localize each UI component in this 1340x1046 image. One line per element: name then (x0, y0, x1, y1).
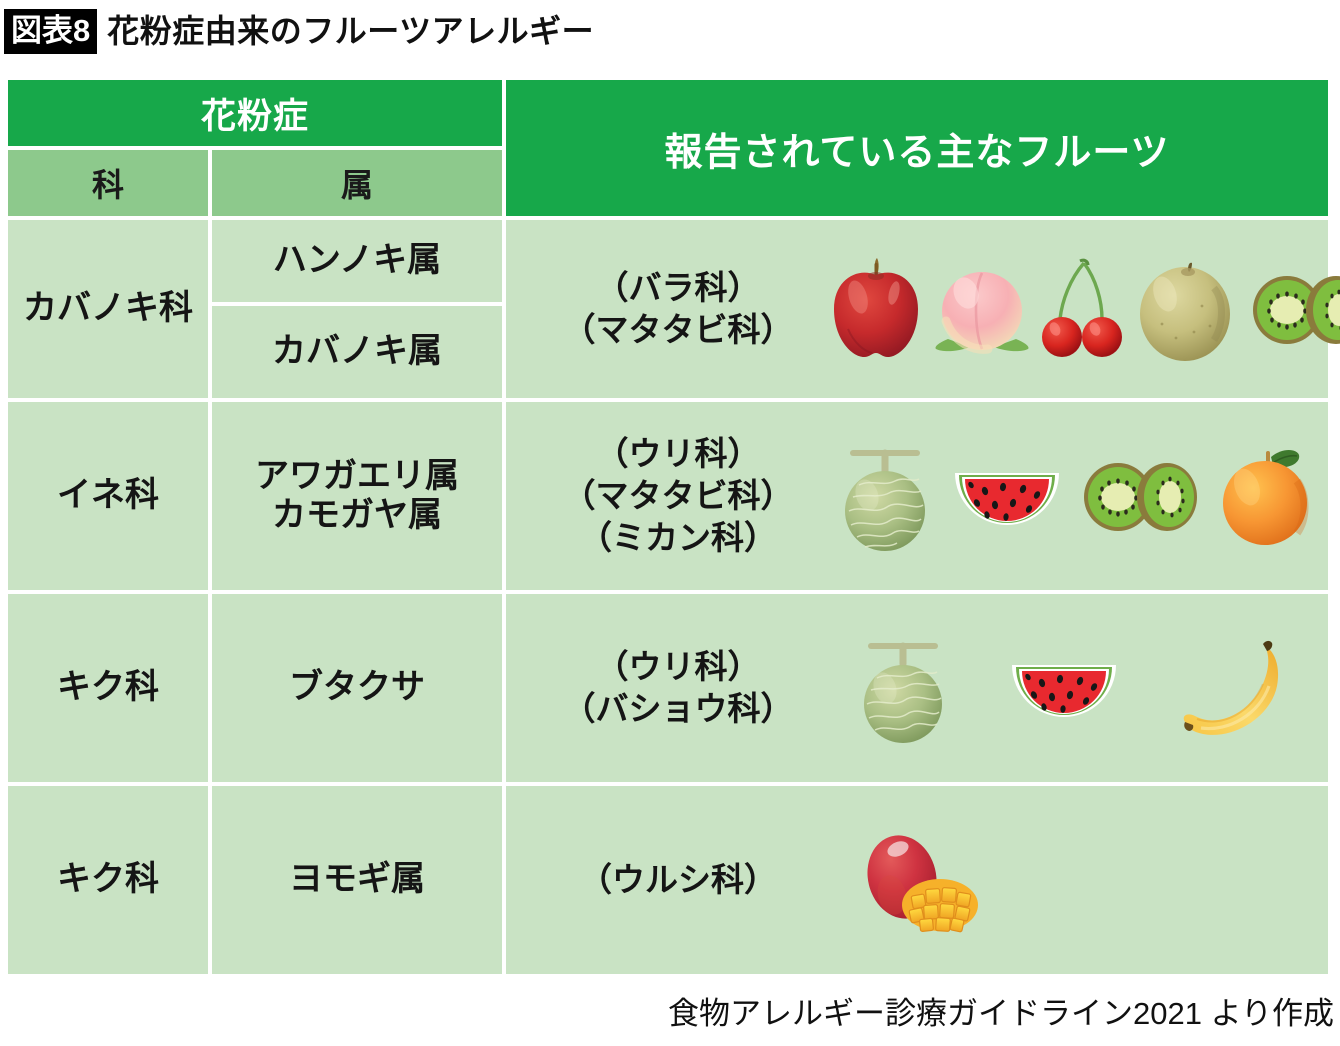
page-title: 図表8 花粉症由来のフルーツアレルギー (0, 0, 1340, 62)
watermelon-icon (951, 453, 1063, 539)
orange-icon (1213, 443, 1317, 549)
allergy-table-container: 花粉症 報告されている主なフルーツ 科 属 カバノキ科 ハンノキ属 （バラ科） … (4, 76, 1332, 978)
fruit-family-list-1: （バラ科） （マタタビ科） (528, 267, 828, 351)
banana-icon (1173, 636, 1297, 740)
table-header-row-1: 花粉症 報告されている主なフルーツ (8, 80, 1328, 146)
cell-fruits-1: （バラ科） （マタタビ科） (506, 220, 1328, 398)
watermelon-icon (1008, 645, 1120, 731)
fruit-family-label: （ミカン科） (528, 517, 828, 559)
figure-number-badge: 図表8 (4, 9, 97, 54)
genus-line: アワガエリ属 (212, 457, 502, 496)
mango-icon (856, 825, 988, 935)
fruit-family-label: （ウリ科） (528, 646, 828, 688)
kiwi-icon (1075, 453, 1201, 539)
cell-genus-2: アワガエリ属 カモガヤ属 (212, 402, 502, 590)
asian-pear-icon (1132, 254, 1238, 364)
cell-genus-1a: ハンノキ属 (212, 220, 502, 302)
header-reported-fruits: 報告されている主なフルーツ (506, 80, 1328, 216)
figure-title-text: 花粉症由来のフルーツアレルギー (107, 15, 594, 47)
fruit-family-list-3: （ウリ科） （バショウ科） (528, 646, 828, 730)
fruit-icon-group-4 (828, 786, 1320, 974)
cell-genus-4: ヨモギ属 (212, 786, 502, 974)
fruit-family-label: （バショウ科） (528, 688, 828, 730)
table-row: イネ科 アワガエリ属 カモガヤ属 （ウリ科） （マタタビ科） （ミカン科） (8, 402, 1328, 590)
cell-family-4: キク科 (8, 786, 208, 974)
cell-fruits-3: （ウリ科） （バショウ科） (506, 594, 1328, 782)
pollen-fruit-allergy-table: 花粉症 報告されている主なフルーツ 科 属 カバノキ科 ハンノキ属 （バラ科） … (4, 76, 1332, 978)
cell-family-2: イネ科 (8, 402, 208, 590)
cell-fruits-2: （ウリ科） （マタタビ科） （ミカン科） (506, 402, 1328, 590)
apple-icon (828, 257, 924, 361)
fruit-icon-group-2 (828, 402, 1320, 590)
kiwi-icon (1244, 266, 1340, 352)
melon-icon (831, 437, 939, 555)
cell-genus-1b: カバノキ属 (212, 306, 502, 398)
cell-fruits-4: （ウルシ科） (506, 786, 1328, 974)
fruit-family-label: （ウルシ科） (528, 859, 828, 901)
header-pollen-group: 花粉症 (8, 80, 502, 146)
cell-family-1: カバノキ科 (8, 220, 208, 398)
fruit-icon-group-1 (828, 220, 1340, 398)
fruit-family-list-2: （ウリ科） （マタタビ科） （ミカン科） (528, 433, 828, 560)
peach-icon (930, 259, 1034, 359)
melon-icon (851, 630, 955, 746)
source-note: 食物アレルギー診療ガイドライン2021 より作成 (668, 988, 1334, 1033)
fruit-family-label: （ウリ科） (528, 433, 828, 475)
cherry-icon (1040, 257, 1126, 361)
fruit-family-label: （バラ科） (528, 267, 828, 309)
table-row: カバノキ科 ハンノキ属 （バラ科） （マタタビ科） (8, 220, 1328, 302)
fruit-family-label: （マタタビ科） (528, 475, 828, 517)
fruit-family-label: （マタタビ科） (528, 309, 828, 351)
header-genus-column: 属 (212, 150, 502, 216)
header-family-column: 科 (8, 150, 208, 216)
cell-family-3: キク科 (8, 594, 208, 782)
table-row: キク科 ブタクサ （ウリ科） （バショウ科） (8, 594, 1328, 782)
genus-line: カモガヤ属 (212, 496, 502, 535)
fruit-family-list-4: （ウルシ科） (528, 859, 828, 901)
fruit-icon-group-3 (828, 594, 1320, 782)
cell-genus-3: ブタクサ (212, 594, 502, 782)
table-row: キク科 ヨモギ属 （ウルシ科） (8, 786, 1328, 974)
